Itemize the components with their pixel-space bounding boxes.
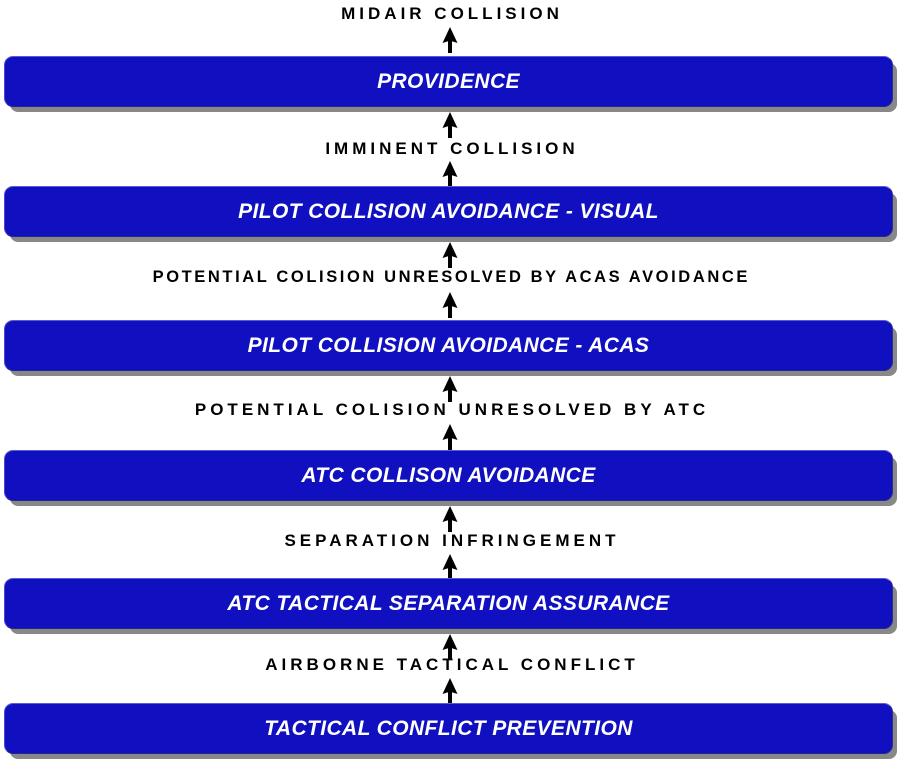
barrier-label: TACTICAL CONFLICT PREVENTION [264,718,633,739]
barrier-providence[interactable]: PROVIDENCE [4,56,893,107]
stage-label-potential-colision-unresolved-by-atc: POTENTIAL COLISION UNRESOLVED BY ATC [0,400,900,420]
barrier-label: ATC COLLISON AVOIDANCE [301,465,595,486]
barrier-atc-tactical-separation-assurance[interactable]: ATC TACTICAL SEPARATION ASSURANCE [4,578,893,629]
arrow-up-icon [441,242,459,268]
barrier-pilot-collision-avoidance-acas[interactable]: PILOT COLLISION AVOIDANCE - ACAS [4,320,893,371]
stage-label-airborne-tactical-conflict: AIRBORNE TACTICAL CONFLICT [0,655,900,675]
arrow-up-icon [441,27,459,53]
arrow-up-icon [441,506,459,532]
barrier-label: ATC TACTICAL SEPARATION ASSURANCE [227,593,669,614]
barrier-label: PILOT COLLISION AVOIDANCE - ACAS [248,335,650,356]
stage-label-potential-colision-unresolved-by-acas-avoidance: POTENTIAL COLISION UNRESOLVED BY ACAS AV… [0,267,900,287]
arrow-up-icon [441,376,459,402]
barrier-label: PILOT COLLISION AVOIDANCE - VISUAL [238,201,659,222]
arrow-up-icon [441,424,459,450]
barrier-tactical-conflict-prevention[interactable]: TACTICAL CONFLICT PREVENTION [4,703,893,754]
arrow-up-icon [441,292,459,318]
barrier-model-diagram: MIDAIR COLLISION PROVIDENCE IMMINENT COL… [0,0,900,765]
barrier-pilot-collision-avoidance-visual[interactable]: PILOT COLLISION AVOIDANCE - VISUAL [4,186,893,237]
arrow-up-icon [441,161,459,187]
stage-label-imminent-collision: IMMINENT COLLISION [0,139,900,159]
barrier-label: PROVIDENCE [377,71,520,92]
arrow-up-icon [441,112,459,138]
stage-label-separation-infringement: SEPARATION INFRINGEMENT [0,531,900,551]
outcome-label-midair-collision: MIDAIR COLLISION [0,4,900,24]
arrow-up-icon [441,678,459,704]
barrier-atc-collison-avoidance[interactable]: ATC COLLISON AVOIDANCE [4,450,893,501]
arrow-up-icon [441,554,459,580]
